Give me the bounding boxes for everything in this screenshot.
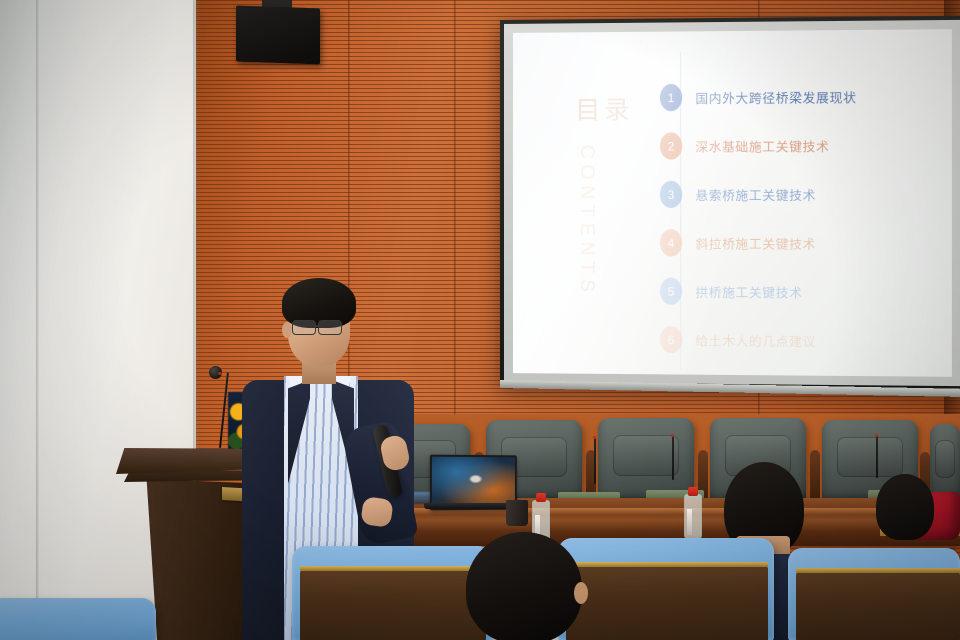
audience-ear-foreground [574, 582, 588, 604]
toc-label: 悬索桥施工关键技术 [695, 185, 816, 204]
auditorium-seat [0, 598, 156, 640]
desk-microphone-indicator [671, 434, 674, 437]
dark-cup [506, 500, 528, 526]
toc-bullet: 2 [660, 132, 682, 159]
auditorium-seat-back [796, 572, 960, 640]
audience-head-foreground [466, 532, 582, 640]
toc-row: 4斜拉桥施工关键技术 [660, 229, 816, 257]
toc-row: 6给土木人的几点建议 [660, 326, 816, 354]
projection-screen: 目录 CONTENTS 1国内外大跨径桥梁发展现状2深水基础施工关键技术3悬索桥… [500, 16, 960, 391]
screen-surface: 目录 CONTENTS 1国内外大跨径桥梁发展现状2深水基础施工关键技术3悬索桥… [513, 29, 952, 377]
slide-title-cn: 目录 [575, 90, 633, 126]
screen-bezel: 目录 CONTENTS 1国内外大跨径桥梁发展现状2深水基础施工关键技术3悬索桥… [504, 20, 960, 386]
toc-label: 国内外大跨径桥梁发展现状 [695, 87, 856, 107]
lecture-hall-photo: AUDIO 目录 CONTENTS 1国内外大跨径桥梁发展现状2深水基础施工关键… [0, 0, 960, 640]
desk-microphone [672, 436, 674, 480]
auditorium-seat-back [566, 566, 768, 640]
toc-label: 深水基础施工关键技术 [695, 136, 829, 156]
gooseneck-mic-indicator [218, 372, 222, 375]
toc-row: 2深水基础施工关键技术 [660, 132, 830, 160]
glasses-bridge [314, 325, 320, 327]
toc-label: 斜拉桥施工关键技术 [695, 233, 816, 252]
auditorium-seat-trim [796, 568, 960, 573]
glasses-icon [318, 320, 342, 335]
slide-title-en: CONTENTS [575, 145, 597, 298]
toc-row: 5拱桥施工关键技术 [660, 278, 803, 306]
desk-microphone [876, 436, 878, 478]
auditorium-seat-trim [566, 562, 768, 567]
auditorium-seat-trim [300, 566, 486, 571]
toc-bullet: 6 [660, 326, 682, 353]
toc-bullet: 3 [660, 181, 682, 208]
toc-row: 1国内外大跨径桥梁发展现状 [660, 83, 857, 111]
toc-label: 给土木人的几点建议 [695, 330, 816, 350]
slide-content: 目录 CONTENTS 1国内外大跨径桥梁发展现状2深水基础施工关键技术3悬索桥… [513, 29, 952, 377]
glasses-icon [292, 320, 316, 335]
toc-label: 拱桥施工关键技术 [695, 282, 802, 302]
wall-seam [36, 0, 39, 640]
water-bottle [684, 494, 702, 540]
toc-bullet: 4 [660, 229, 682, 256]
desk-microphone-indicator [593, 436, 596, 439]
presenter-ear [282, 322, 292, 338]
toc-row: 3悬索桥施工关键技术 [660, 181, 816, 208]
wall-loudspeaker: AUDIO [236, 6, 320, 65]
desk-microphone-indicator [875, 434, 878, 437]
auditorium-seat-back [300, 570, 486, 640]
chair-armrest [810, 450, 820, 504]
toc-bullet: 5 [660, 278, 682, 305]
desk-microphone [594, 438, 596, 484]
audience-person-far-right [876, 474, 934, 540]
toc-bullet: 1 [660, 84, 682, 111]
